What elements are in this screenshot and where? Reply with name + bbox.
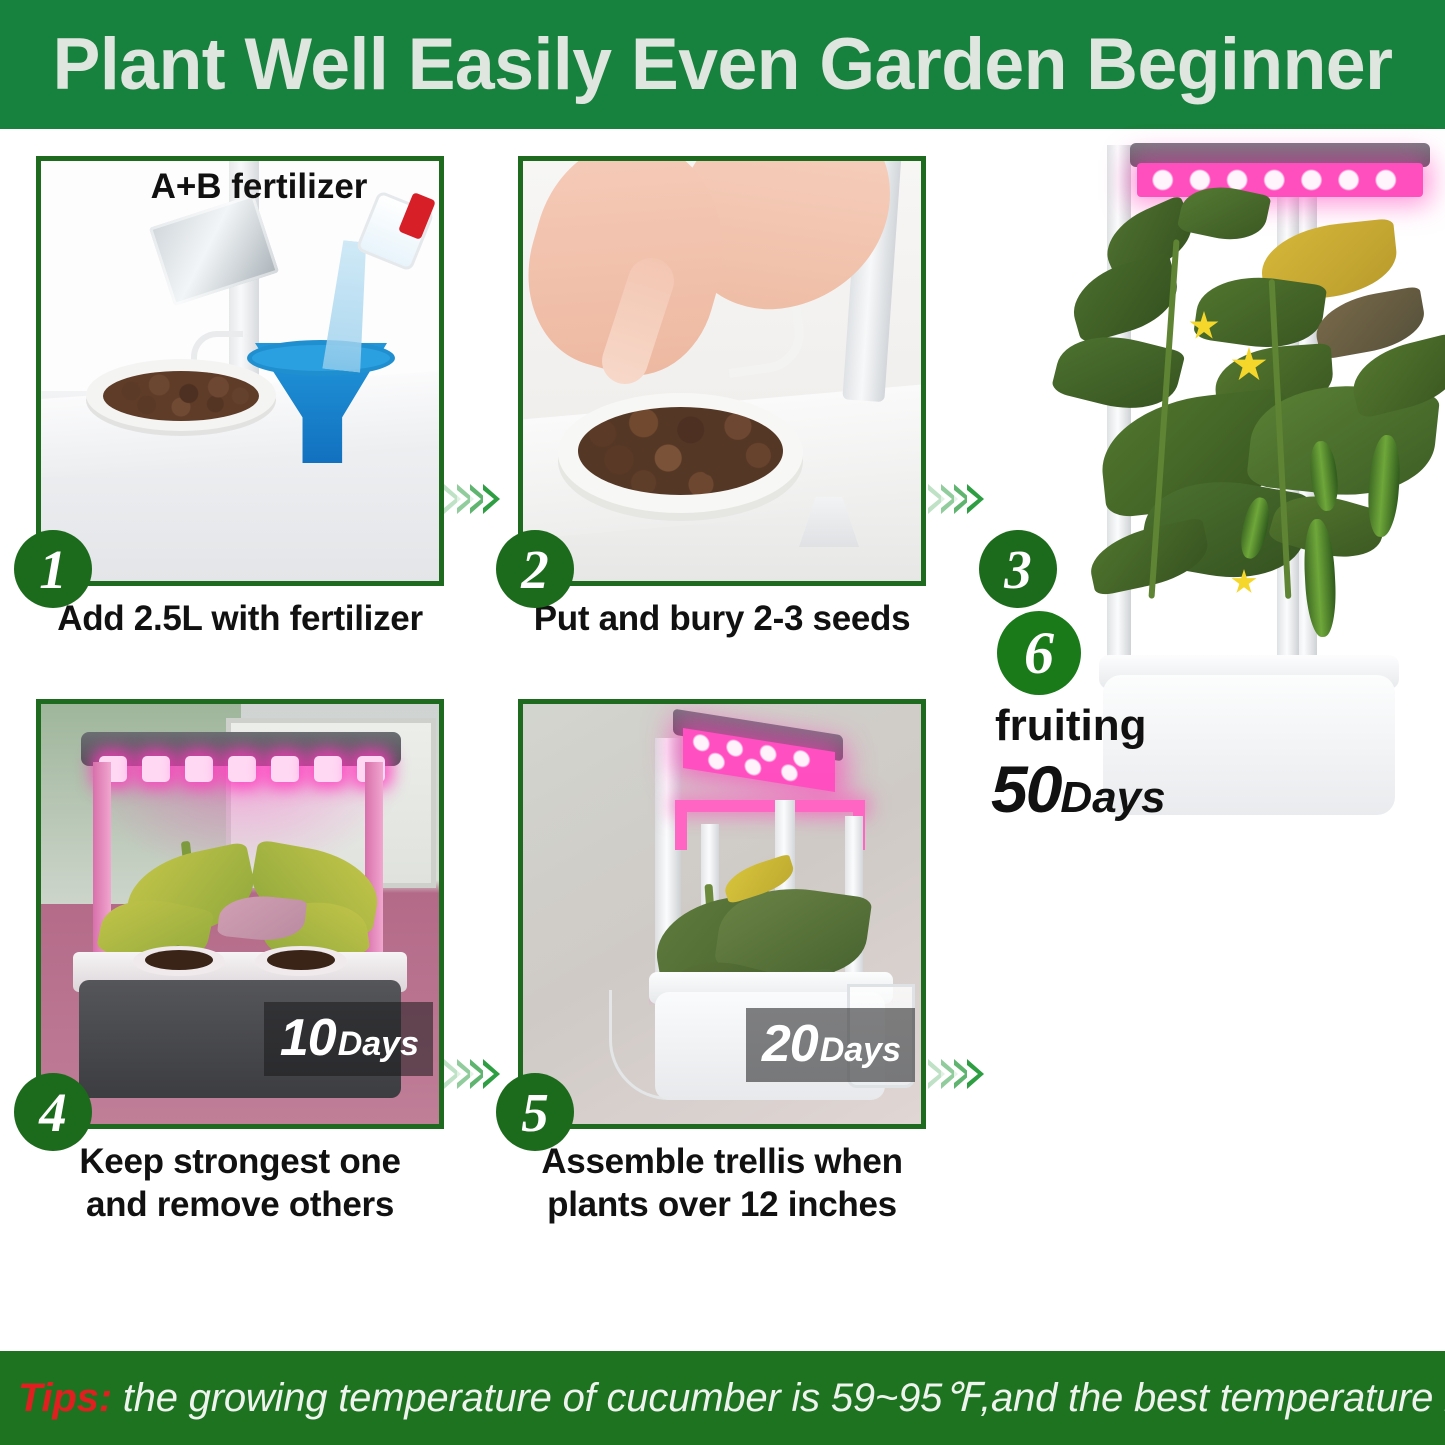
step-caption-2: Put and bury 2-3 seeds (518, 598, 926, 641)
step-card-5: 20 Days 5 Assemble trellis when plants o… (518, 699, 926, 1129)
chevron-right-icon (483, 484, 500, 514)
tips-text-part1: the growing temperature of cucumber is 5… (112, 1376, 942, 1420)
step-card-2: 2 Put and bury 2-3 seeds (518, 156, 926, 586)
tips-text: Tips: the growing temperature of cucumbe… (0, 1375, 1445, 1421)
step-caption-6: fruiting (995, 701, 1147, 751)
days-label: Days (1060, 773, 1165, 823)
days-label: Days (820, 1031, 901, 1070)
step-photo-2 (518, 156, 926, 586)
page-title: Plant Well Easily Even Garden Beginner (53, 23, 1393, 106)
step-caption-1: Add 2.5L with fertilizer (36, 598, 444, 641)
step-photo-4: 10 Days (36, 699, 444, 1129)
funnel-rim (247, 340, 395, 376)
step-caption-5-line1: Assemble trellis when (518, 1141, 926, 1184)
step-badge-6: 6 (997, 611, 1081, 695)
days-value: 50 (991, 751, 1060, 827)
step-card-1: A+B fertilizer 1 Add 2.5L with fertilize… (36, 156, 444, 586)
led-array (99, 756, 385, 786)
led-array (1137, 163, 1423, 197)
step-caption-5: Assemble trellis when plants over 12 inc… (518, 1141, 926, 1226)
page-header: Plant Well Easily Even Garden Beginner (0, 0, 1445, 129)
chevron-right-icon (483, 1059, 500, 1089)
fertilizer-label: A+B fertilizer (129, 167, 389, 207)
clay-pebbles (578, 407, 783, 495)
days-badge-4: 10 Days (264, 1002, 433, 1076)
step-caption-4-line2: and remove others (36, 1184, 444, 1227)
step-photo-5: 20 Days (518, 699, 926, 1129)
clay-pebbles (145, 950, 213, 970)
step-badge-2: 2 (496, 530, 574, 608)
step-badge-5: 5 (496, 1073, 574, 1151)
trellis-top-bar (675, 800, 865, 812)
step-caption-5-line2: plants over 12 inches (518, 1184, 926, 1227)
days-badge-6: 50 Days (991, 751, 1166, 827)
days-label: Days (338, 1025, 419, 1064)
chevron-right-icon (967, 1059, 984, 1089)
step-badge-4: 4 (14, 1073, 92, 1151)
arrow-step5-to-step6 (928, 1059, 980, 1089)
tips-unit-1: ℉ (942, 1376, 980, 1420)
tips-text-part2: ,and the best temperature is 68~77 (980, 1376, 1445, 1420)
chevron-right-icon (967, 484, 984, 514)
step-badge-1: 1 (14, 530, 92, 608)
step-card-6: 6 fruiting 50 Days (985, 129, 1445, 829)
arrow-step4-to-step5 (444, 1059, 496, 1089)
tips-lead-label: Tips: (18, 1376, 112, 1420)
step-badge-3: 3 (979, 530, 1057, 608)
tips-bar: Tips: the growing temperature of cucumbe… (0, 1351, 1445, 1445)
clay-pebbles (103, 371, 259, 421)
trellis-side-left (675, 812, 687, 850)
arrow-step2-to-step3 (928, 484, 980, 514)
arrow-step1-to-step2 (444, 484, 496, 514)
step-card-4: 10 Days 4 Keep strongest one and remove … (36, 699, 444, 1129)
step-caption-4: Keep strongest one and remove others (36, 1141, 444, 1226)
days-value: 10 (280, 1008, 336, 1068)
step-photo-1: A+B fertilizer (36, 156, 444, 586)
days-badge-5: 20 Days (746, 1008, 915, 1082)
steps-board: A+B fertilizer 1 Add 2.5L with fertilize… (0, 129, 1445, 1319)
step-caption-4-line1: Keep strongest one (36, 1141, 444, 1184)
days-value: 20 (762, 1014, 818, 1074)
clay-pebbles (267, 950, 335, 970)
